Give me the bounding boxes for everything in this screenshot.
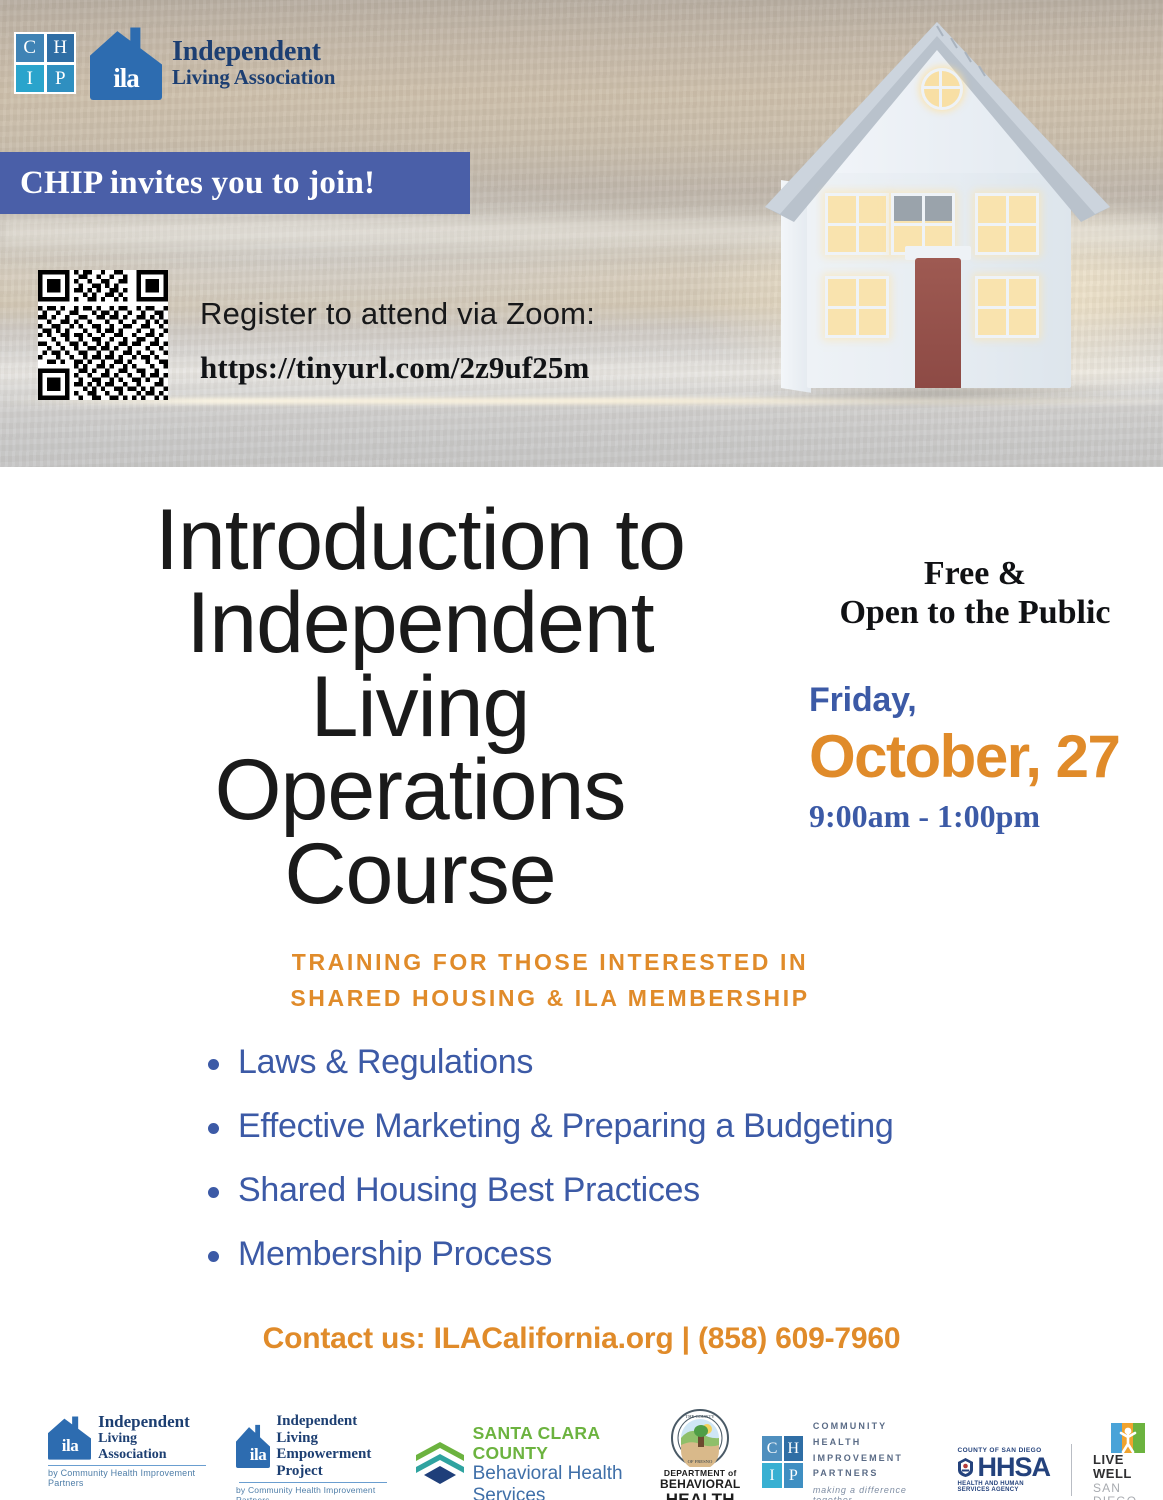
footer-ilep-byline: by Community Health Improvement Partners [236, 1485, 390, 1500]
footer-logo-ila: ila Independent Living Association by Co… [48, 1413, 206, 1488]
footer-logo-ilep: ila Independent Living Empowerment Proje… [236, 1413, 390, 1500]
live-well-line2: SAN DIEGO [1093, 1482, 1163, 1500]
ila-house-icon: ila [236, 1424, 270, 1468]
window-upper-3 [975, 193, 1039, 255]
chip-letter-c: C [16, 34, 44, 62]
footer-ilep-row: ila Independent Living Empowerment Proje… [236, 1413, 390, 1479]
contact-line[interactable]: Contact us: ILACalifornia.org | (858) 60… [0, 1322, 1163, 1356]
chevron-diamond-icon [416, 1442, 464, 1488]
footer-chip-name: COMMUNITY HEALTH IMPROVEMENT PARTNERS ma… [813, 1419, 938, 1500]
title-line-5: Course [60, 833, 780, 916]
divider [239, 1482, 387, 1483]
footer-ilep-line1: Independent Living [276, 1413, 389, 1446]
ila-logo-word: ila [96, 63, 156, 93]
chip-letter-i: I [762, 1463, 781, 1488]
footer-ila-row: ila Independent Living Association [48, 1413, 206, 1462]
list-item: Laws & Regulations [200, 1043, 1060, 1081]
chip-logo-icon: C H I P [14, 32, 76, 94]
footer-ilep-line2: Empowerment Project [276, 1446, 389, 1479]
header-logo-lockup: C H I P ila Independent Living Associati… [14, 26, 335, 100]
footer-fresno-line2: BEHAVIORAL [660, 1478, 740, 1491]
hhsa-middle-row: HHSA [957, 1454, 1050, 1481]
hhsa-word: HHSA [977, 1454, 1050, 1481]
footer-ilep-name: Independent Living Empowerment Project [276, 1413, 389, 1479]
free-line-2: Open to the Public [795, 594, 1155, 633]
ila-logo-word: ila [239, 1445, 277, 1464]
window-upper-1 [825, 193, 889, 255]
footer-scc-line2: Behavioral Health Services [473, 1463, 640, 1500]
footer-ila-name: Independent Living Association [98, 1413, 206, 1462]
live-well-line1: LIVE WELL [1093, 1453, 1163, 1482]
footer-logo-hhsa-livewell: COUNTY OF SAN DIEGO HHSA HEALTH AND HUMA… [957, 1423, 1163, 1500]
footer-fresno-name: DEPARTMENT of BEHAVIORAL HEALTH [660, 1468, 740, 1500]
footer-logo-santa-clara-bhs: SANTA CLARA COUNTY Behavioral Health Ser… [416, 1423, 640, 1500]
list-item: Shared Housing Best Practices [200, 1171, 1060, 1209]
footer-ila-line1: Independent [98, 1413, 206, 1431]
footer-logo-fresno-bh: THE COUNTY OF FRESNO DEPARTMENT of BEHAV… [660, 1409, 740, 1500]
divider [1071, 1444, 1072, 1496]
free-line-1: Free & [795, 555, 1155, 594]
footer-ila-byline: by Community Health Improvement Partners [48, 1468, 206, 1488]
title-line-3: Living [60, 666, 780, 749]
chip-letter-p: P [47, 65, 75, 93]
live-well-lockup: LIVE WELL SAN DIEGO LIVEWELLSD.ORG [1093, 1423, 1163, 1500]
footer-fresno-line3: HEALTH [660, 1491, 740, 1500]
ila-name-line2: Living Association [172, 66, 335, 89]
free-open-public: Free & Open to the Public [795, 555, 1155, 633]
topics-list: Laws & Regulations Effective Marketing &… [200, 1043, 1060, 1299]
footer-chip-line1: COMMUNITY HEALTH [813, 1419, 938, 1451]
attic-round-window [921, 68, 963, 110]
footer-scc-name: SANTA CLARA COUNTY Behavioral Health Ser… [473, 1423, 640, 1500]
chip-letter-p: P [784, 1463, 803, 1488]
chip-letter-h: H [784, 1436, 803, 1461]
chip-logo-icon: C H I P [762, 1436, 802, 1488]
footer-scc-line1: SANTA CLARA COUNTY [473, 1423, 640, 1463]
ila-logo-name: Independent Living Association [172, 37, 335, 90]
footer-chip-tagline: making a difference together [813, 1485, 938, 1500]
training-subhead: TRAINING FOR THOSE INTERESTED IN SHARED … [180, 945, 920, 1016]
ila-logo-lockup: ila Independent Living Association [90, 26, 335, 100]
footer-chip-line2: IMPROVEMENT PARTNERS [813, 1451, 938, 1483]
qr-code[interactable] [38, 270, 168, 410]
fresno-county-seal-icon: THE COUNTY OF FRESNO [671, 1409, 729, 1467]
title-line-4: Operations [60, 749, 780, 832]
window-lower-1 [825, 276, 889, 338]
list-item: Effective Marketing & Preparing a Budget… [200, 1107, 1060, 1145]
ila-house-icon: ila [48, 1416, 91, 1460]
footer-logo-chip: C H I P COMMUNITY HEALTH IMPROVEMENT PAR… [762, 1419, 937, 1500]
register-label: Register to attend via Zoom: [200, 296, 595, 332]
chip-letter-h: H [47, 34, 75, 62]
hhsa-bottom-line: HEALTH AND HUMAN SERVICES AGENCY [957, 1481, 1050, 1493]
event-date: October, 27 [809, 726, 1155, 787]
flyer-page: C H I P ila Independent Living Associati… [0, 0, 1163, 1500]
hero-photo-banner: C H I P ila Independent Living Associati… [0, 0, 1163, 467]
house-front-door [915, 258, 961, 388]
date-block: Friday, October, 27 9:00am - 1:00pm [795, 683, 1155, 835]
san-diego-seal-icon [957, 1458, 974, 1477]
divider [48, 1465, 206, 1466]
event-time: 9:00am - 1:00pm [809, 799, 1155, 834]
flyer-body: Introduction to Independent Living Opera… [0, 467, 1163, 1500]
svg-text:OF FRESNO: OF FRESNO [688, 1459, 713, 1464]
title-line-1: Introduction to [60, 499, 780, 582]
page-title: Introduction to Independent Living Opera… [60, 499, 780, 916]
invite-banner: CHIP invites you to join! [0, 152, 470, 214]
partner-logo-strip: ila Independent Living Association by Co… [0, 1405, 1163, 1500]
title-line-2: Independent [60, 582, 780, 665]
subhead-line-1: TRAINING FOR THOSE INTERESTED IN [180, 945, 920, 981]
event-day: Friday, [809, 683, 1155, 719]
model-house-illustration [735, 8, 1135, 428]
event-details-column: Free & Open to the Public Friday, Octobe… [795, 555, 1155, 835]
chip-letter-i: I [16, 65, 44, 93]
window-lower-2 [975, 276, 1039, 338]
register-url[interactable]: https://tinyurl.com/2z9uf25m [200, 350, 595, 386]
house-roof [765, 22, 1110, 212]
invite-banner-text: CHIP invites you to join! [0, 165, 375, 202]
svg-text:THE COUNTY: THE COUNTY [686, 1414, 716, 1419]
list-item: Membership Process [200, 1235, 1060, 1273]
ila-name-line1: Independent [172, 37, 335, 67]
footer-ila-line2: Living Association [98, 1431, 206, 1462]
register-info: Register to attend via Zoom: https://tin… [200, 296, 595, 386]
subhead-line-2: SHARED HOUSING & ILA MEMBERSHIP [180, 981, 920, 1017]
chip-letter-c: C [762, 1436, 781, 1461]
ila-house-icon: ila [90, 26, 162, 100]
ila-logo-word: ila [51, 1437, 89, 1456]
live-well-figure-icon [1111, 1423, 1145, 1453]
hhsa-lockup: COUNTY OF SAN DIEGO HHSA HEALTH AND HUMA… [957, 1447, 1050, 1493]
